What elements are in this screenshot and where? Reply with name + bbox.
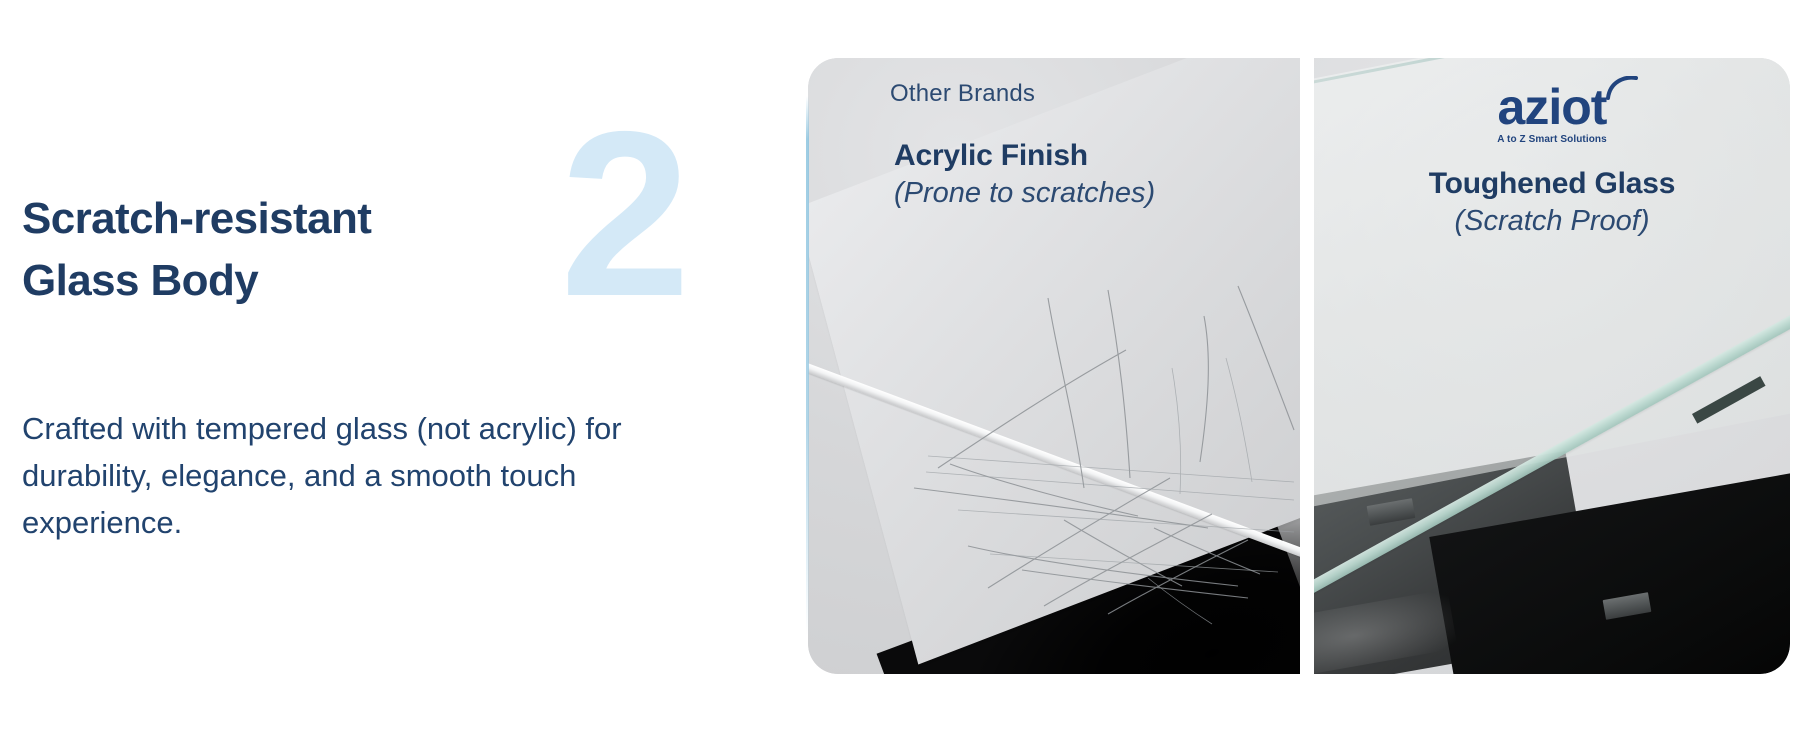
panel-divider bbox=[1300, 58, 1314, 674]
brand-tagline: A to Z Smart Solutions bbox=[1442, 134, 1662, 145]
panel-title-toughened-glass: Toughened Glass bbox=[1314, 166, 1790, 202]
comparison-card: Other Brands Acrylic Finish (Prone to sc… bbox=[808, 58, 1790, 674]
brand-wordmark: aziot bbox=[1498, 82, 1607, 132]
panel-subtitle-toughened-glass: (Scratch Proof) bbox=[1314, 204, 1790, 239]
brand-logo: aziot A to Z Smart Solutions bbox=[1442, 82, 1662, 145]
panel-subtitle-acrylic: (Prone to scratches) bbox=[894, 176, 1294, 211]
headline-line-1: Scratch-resistant bbox=[22, 188, 562, 250]
page-title: Scratch-resistant Glass Body bbox=[22, 188, 562, 313]
panel-heading-acrylic: Acrylic Finish (Prone to scratches) bbox=[894, 138, 1294, 211]
glass-photo bbox=[1314, 58, 1790, 674]
feature-description: Crafted with tempered glass (not acrylic… bbox=[22, 405, 682, 546]
panel-title-acrylic: Acrylic Finish bbox=[894, 138, 1294, 174]
feature-number-badge: 2 bbox=[560, 96, 685, 331]
headline-line-2: Glass Body bbox=[22, 250, 562, 312]
panel-aziot: aziot A to Z Smart Solutions Toughened G… bbox=[1314, 58, 1790, 674]
panel-other-brands: Other Brands Acrylic Finish (Prone to sc… bbox=[808, 58, 1300, 674]
feature-text-column: 2 Scratch-resistant Glass Body Crafted w… bbox=[0, 0, 760, 738]
panel-heading-toughened-glass: Toughened Glass (Scratch Proof) bbox=[1314, 166, 1790, 239]
panel-eyebrow-other-brands: Other Brands bbox=[890, 80, 1035, 108]
card-accent-edge bbox=[806, 96, 809, 636]
